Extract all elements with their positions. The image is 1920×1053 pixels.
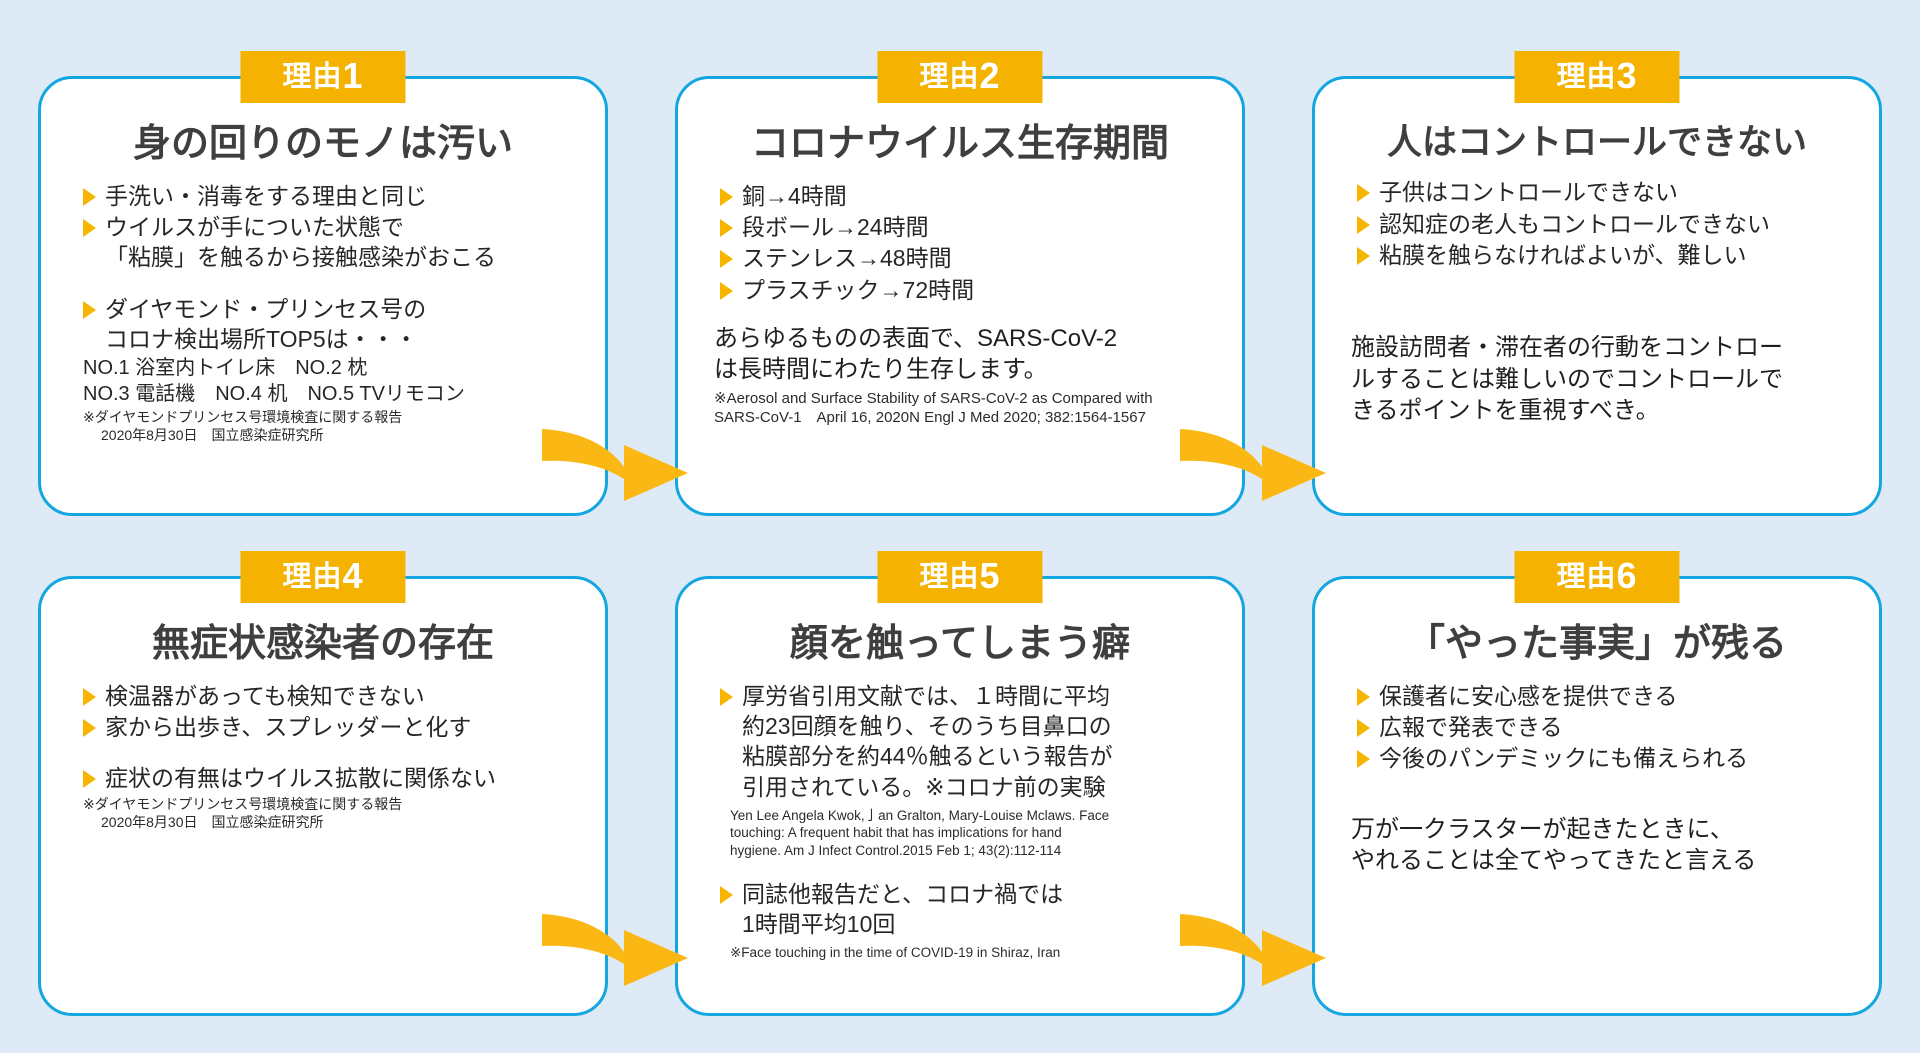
bullet-item: 今後のパンデミックにも備えられる [1357,743,1853,773]
spacer [704,859,1216,879]
reason-badge-6: 理由6 [1514,551,1679,603]
bullet-line: 今後のパンデミックにも備えられる [1379,745,1748,771]
triangle-bullet-icon [720,219,733,237]
card-2-bullets: 銅→4時間 段ボール→24時間 ステンレス→48時間 プラスチック→72時間 [704,181,1216,305]
bullet-line: 粘膜を触らなければよいが、難しい [1379,242,1747,268]
triangle-bullet-icon [720,688,733,706]
bullet-line: 同誌他報告だと、コロナ禍では [742,881,1063,907]
citation-line: ※Face touching in the time of COVID-19 i… [730,944,1216,961]
card-6-paragraph: 万が一クラスターが起きたときに、 やれることは全てやってきたと言える [1341,814,1853,876]
card-6-bullets: 保護者に安心感を提供できる 広報で発表できる 今後のパンデミックにも備えられる [1341,681,1853,774]
bullet-item: プラスチック→72時間 [720,275,1216,305]
card-1-title: 身の回りのモノは汚い [67,123,579,167]
bullet-item: ステンレス→48時間 [720,243,1216,273]
paragraph-line: 万が一クラスターが起きたときに、 [1351,814,1853,845]
citation-line: ※Aerosol and Surface Stability of SARS-C… [714,389,1216,409]
badge-label-2: 理由 [919,61,979,93]
card-1-note: ※ダイヤモンドプリンセス号環境検査に関する報告 2020年8月30日 国立感染症… [67,409,579,445]
bullet-line: 手洗い・消毒をする理由と同じ [105,183,427,209]
card-3-body: 人はコントロールできない 子供はコントロールできない 認知症の老人もコントロール… [1315,79,1879,513]
triangle-bullet-icon [1357,216,1370,234]
paragraph-line: きるポイントを重視すべき。 [1351,395,1853,426]
citation-line: touching: A frequent habit that has impl… [730,824,1216,841]
card-1-sublist: NO.1 浴室内トイレ床 NO.2 枕 NO.3 電話機 NO.4 机 NO.5… [67,355,579,407]
arrow-card4-to-card5 [540,900,690,986]
bullet-item: 手洗い・消毒をする理由と同じ [83,181,579,211]
bullet-line: 認知症の老人もコントロールできない [1379,211,1770,237]
reason-badge-3: 理由3 [1514,51,1679,103]
bullet-line: プラスチック→72時間 [742,277,974,303]
card-2-paragraph: あらゆるものの表面で、SARS-CoV-2 は長時間にわたり生存します。 [704,323,1216,385]
bullet-item: 銅→4時間 [720,181,1216,211]
card-5-bullets-secondary: 同誌他報告だと、コロナ禍では1時間平均10回 [704,879,1216,940]
badge-label-6: 理由 [1556,561,1616,593]
paragraph-line: は長時間にわたり生存します。 [714,354,1216,385]
arrow-card2-to-card3 [1178,415,1328,501]
triangle-bullet-icon [83,301,96,319]
citation-line: hygiene. Am J Infect Control.2015 Feb 1;… [730,842,1216,859]
bullet-item: ウイルスが手についた状態で「粘膜」を触るから接触感染がおこる [83,212,579,273]
card-4-note: ※ダイヤモンドプリンセス号環境検査に関する報告 2020年8月30日 国立感染症… [67,796,579,832]
card-5-title: 顔を触ってしまう癖 [704,623,1216,667]
bullet-line: 子供はコントロールできない [1379,179,1678,205]
triangle-bullet-icon [720,188,733,206]
note-line: 2020年8月30日 国立感染症研究所 [83,427,579,445]
triangle-bullet-icon [83,219,96,237]
card-5-bullets: 厚労省引用文献では、１時間に平均約23回顔を触り、そのうち目鼻口の粘膜部分を約4… [704,681,1216,802]
triangle-bullet-icon [83,688,96,706]
reason-card-6: 理由6 「やった事実」が残る 保護者に安心感を提供できる 広報で発表できる 今後… [1312,576,1882,1016]
triangle-bullet-icon [1357,750,1370,768]
bullet-line: ダイヤモンド・プリンセス号の [105,296,426,322]
card-6-body: 「やった事実」が残る 保護者に安心感を提供できる 広報で発表できる 今後のパンデ… [1315,579,1879,1013]
card-1-bullets-secondary: ダイヤモンド・プリンセス号のコロナ検出場所TOP5は・・・ [67,294,579,355]
triangle-bullet-icon [1357,184,1370,202]
card-2-title: コロナウイルス生存期間 [704,123,1216,167]
triangle-bullet-icon [1357,247,1370,265]
badge-number-2: 2 [979,55,1000,96]
bullet-line: 厚労省引用文献では、１時間に平均 [742,683,1110,709]
bullet-item: 子供はコントロールできない [1357,177,1853,207]
reason-badge-4: 理由4 [240,551,405,603]
triangle-bullet-icon [720,282,733,300]
card-6-title: 「やった事実」が残る [1341,623,1853,667]
badge-label-5: 理由 [919,561,979,593]
badge-number-1: 1 [342,55,363,96]
bullet-line: 銅→4時間 [742,183,847,209]
reason-card-1: 理由1 身の回りのモノは汚い 手洗い・消毒をする理由と同じ ウイルスが手についた… [38,76,608,516]
bullet-line: 症状の有無はウイルス拡散に関係ない [105,765,496,791]
bullet-line: 段ボール→24時間 [742,214,929,240]
triangle-bullet-icon [1357,719,1370,737]
bullet-line: 1時間平均10回 [742,909,1216,939]
bullet-line: 広報で発表できる [1379,714,1563,740]
bullet-line: 約23回顔を触り、そのうち目鼻口の [742,711,1216,741]
bullet-item: 同誌他報告だと、コロナ禍では1時間平均10回 [720,879,1216,940]
badge-label-3: 理由 [1556,61,1616,93]
reason-card-4: 理由4 無症状感染者の存在 検温器があっても検知できない 家から出歩き、スプレッ… [38,576,608,1016]
card-5-body: 顔を触ってしまう癖 厚労省引用文献では、１時間に平均約23回顔を触り、そのうち目… [678,579,1242,1013]
card-row-1: 理由1 身の回りのモノは汚い 手洗い・消毒をする理由と同じ ウイルスが手についた… [0,48,1920,548]
bullet-item: 症状の有無はウイルス拡散に関係ない [83,763,579,793]
bullet-line: 家から出歩き、スプレッダーと化す [105,714,471,740]
card-2-body: コロナウイルス生存期間 銅→4時間 段ボール→24時間 ステンレス→48時間 プ… [678,79,1242,513]
bullet-item: 段ボール→24時間 [720,212,1216,242]
triangle-bullet-icon [720,886,733,904]
card-4-title: 無症状感染者の存在 [67,623,579,667]
arrow-card1-to-card2 [540,415,690,501]
card-5-citation-2: ※Face touching in the time of COVID-19 i… [704,944,1216,961]
reason-badge-1: 理由1 [240,51,405,103]
reason-card-3: 理由3 人はコントロールできない 子供はコントロールできない 認知症の老人もコン… [1312,76,1882,516]
badge-number-5: 5 [979,555,1000,596]
bullet-line: 粘膜部分を約44％触るという報告が [742,741,1216,771]
note-line: ※ダイヤモンドプリンセス号環境検査に関する報告 [83,796,579,814]
citation-line: SARS-CoV-1 April 16, 2020N Engl J Med 20… [714,408,1216,428]
reason-badge-5: 理由5 [877,551,1042,603]
note-line: 2020年8月30日 国立感染症研究所 [83,814,579,832]
arrow-card5-to-card6 [1178,900,1328,986]
note-line: ※ダイヤモンドプリンセス号環境検査に関する報告 [83,409,579,427]
bullet-line: ステンレス→48時間 [742,245,952,271]
paragraph-line: ルすることは難しいのでコントロールで [1351,364,1853,395]
bullet-item: 認知症の老人もコントロールできない [1357,209,1853,239]
bullet-line: 保護者に安心感を提供できる [1379,683,1678,709]
badge-label-1: 理由 [282,61,342,93]
bullet-item: 検温器があっても検知できない [83,681,579,711]
bullet-item: 家から出歩き、スプレッダーと化す [83,712,579,742]
card-5-citation: Yen Lee Angela Kwok,亅an Gralton, Mary-Lo… [704,807,1216,859]
bullet-line: コロナ検出場所TOP5は・・・ [105,324,579,354]
paragraph-line: 施設訪問者・滞在者の行動をコントロー [1351,332,1853,363]
triangle-bullet-icon [720,250,733,268]
triangle-bullet-icon [83,770,96,788]
bullet-line: 検温器があっても検知できない [105,683,425,709]
badge-number-3: 3 [1616,55,1637,96]
badge-number-4: 4 [342,555,363,596]
badge-number-6: 6 [1616,555,1637,596]
reason-badge-2: 理由2 [877,51,1042,103]
bullet-item: ダイヤモンド・プリンセス号のコロナ検出場所TOP5は・・・ [83,294,579,355]
spacer [67,274,579,294]
card-3-paragraph: 施設訪問者・滞在者の行動をコントロー ルすることは難しいのでコントロールで きる… [1341,332,1853,426]
triangle-bullet-icon [1357,688,1370,706]
reason-card-5: 理由5 顔を触ってしまう癖 厚労省引用文献では、１時間に平均約23回顔を触り、そ… [675,576,1245,1016]
card-3-bullets: 子供はコントロールできない 認知症の老人もコントロールできない 粘膜を触らなけれ… [1341,177,1853,270]
sublist-line: NO.1 浴室内トイレ床 NO.2 枕 [83,355,579,381]
badge-label-4: 理由 [282,561,342,593]
bullet-item: 粘膜を触らなければよいが、難しい [1357,240,1853,270]
triangle-bullet-icon [83,188,96,206]
bullet-item: 保護者に安心感を提供できる [1357,681,1853,711]
card-4-body: 無症状感染者の存在 検温器があっても検知できない 家から出歩き、スプレッダーと化… [41,579,605,1013]
card-2-citation: ※Aerosol and Surface Stability of SARS-C… [704,389,1216,428]
reason-card-2: 理由2 コロナウイルス生存期間 銅→4時間 段ボール→24時間 ステンレス→48… [675,76,1245,516]
card-4-bullets: 検温器があっても検知できない 家から出歩き、スプレッダーと化す [67,681,579,743]
bullet-line: 引用されている。※コロナ前の実験 [742,772,1216,802]
triangle-bullet-icon [83,719,96,737]
spacer [67,743,579,763]
card-row-2: 理由4 無症状感染者の存在 検温器があっても検知できない 家から出歩き、スプレッ… [0,548,1920,1048]
paragraph-line: あらゆるものの表面で、SARS-CoV-2 [714,323,1216,354]
sublist-line: NO.3 電話機 NO.4 机 NO.5 TVリモコン [83,381,579,407]
card-4-bullets-secondary: 症状の有無はウイルス拡散に関係ない [67,763,579,793]
card-1-body: 身の回りのモノは汚い 手洗い・消毒をする理由と同じ ウイルスが手についた状態で「… [41,79,605,513]
paragraph-line: やれることは全てやってきたと言える [1351,845,1853,876]
bullet-item: 厚労省引用文献では、１時間に平均約23回顔を触り、そのうち目鼻口の粘膜部分を約4… [720,681,1216,802]
bullet-line: ウイルスが手についた状態で [105,214,404,240]
card-3-title: 人はコントロールできない [1341,123,1853,163]
infographic-canvas: 理由1 身の回りのモノは汚い 手洗い・消毒をする理由と同じ ウイルスが手についた… [0,0,1920,1053]
bullet-item: 広報で発表できる [1357,712,1853,742]
card-1-bullets: 手洗い・消毒をする理由と同じ ウイルスが手についた状態で「粘膜」を触るから接触感… [67,181,579,273]
citation-line: Yen Lee Angela Kwok,亅an Gralton, Mary-Lo… [730,807,1216,824]
bullet-line: 「粘膜」を触るから接触感染がおこる [105,242,579,272]
